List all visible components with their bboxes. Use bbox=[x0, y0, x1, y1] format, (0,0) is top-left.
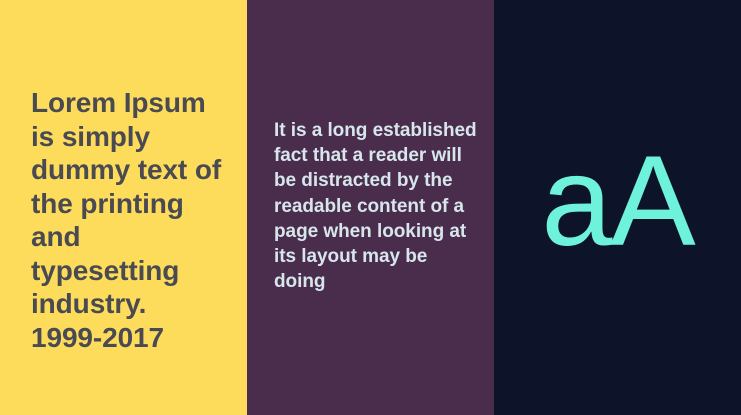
typography-layout: Lorem Ipsum is simply dummy text of the … bbox=[0, 0, 741, 415]
heading-panel: Lorem Ipsum is simply dummy text of the … bbox=[0, 0, 247, 415]
body-panel: It is a long established fact that a rea… bbox=[247, 0, 494, 415]
font-specimen-text: aA bbox=[541, 138, 694, 266]
body-text: It is a long established fact that a rea… bbox=[274, 118, 480, 294]
specimen-panel: aA bbox=[494, 0, 741, 415]
heading-text: Lorem Ipsum is simply dummy text of the … bbox=[31, 86, 233, 354]
